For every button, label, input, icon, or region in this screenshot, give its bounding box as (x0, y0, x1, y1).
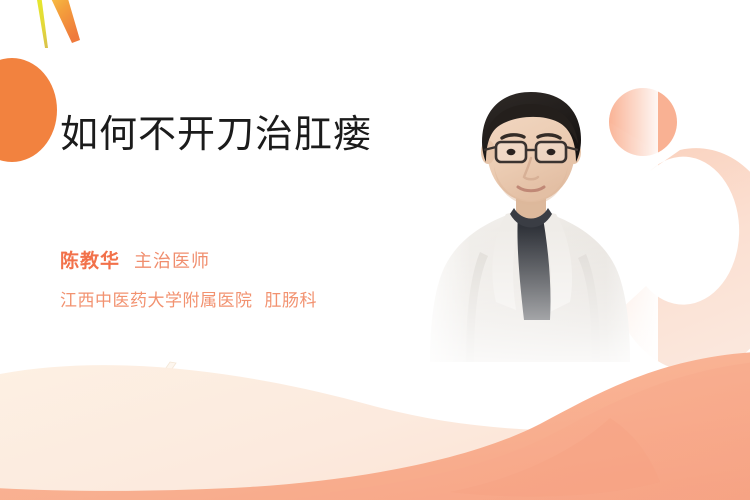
portrait-side-fade (418, 62, 658, 362)
doctor-rank: 主治医师 (134, 247, 210, 273)
page-title: 如何不开刀治肛瘘 (60, 112, 460, 158)
headline-block: 如何不开刀治肛瘘 (60, 112, 460, 158)
diagonal-stripe-orange-icon (48, 0, 80, 43)
doctor-department: 肛肠科 (265, 286, 318, 311)
doctor-name-row: 陈教华 主治医师 (60, 246, 317, 273)
doctor-credentials-block: 陈教华 主治医师 江西中医药大学附属医院 肛肠科 (60, 246, 317, 311)
doctor-affiliation-row: 江西中医药大学附属医院 肛肠科 (60, 286, 317, 311)
orange-circle-left-icon (0, 58, 57, 162)
poster-canvas: 如何不开刀治肛瘘 陈教华 主治医师 江西中医药大学附属医院 肛肠科 (0, 0, 750, 500)
doctor-portrait (418, 62, 658, 362)
doctor-portrait-illustration (418, 62, 658, 362)
diagonal-stripe-thin-yellow-icon (36, 0, 48, 48)
doctor-hospital: 江西中医药大学附属医院 (60, 286, 253, 311)
doctor-name: 陈教华 (60, 246, 120, 273)
